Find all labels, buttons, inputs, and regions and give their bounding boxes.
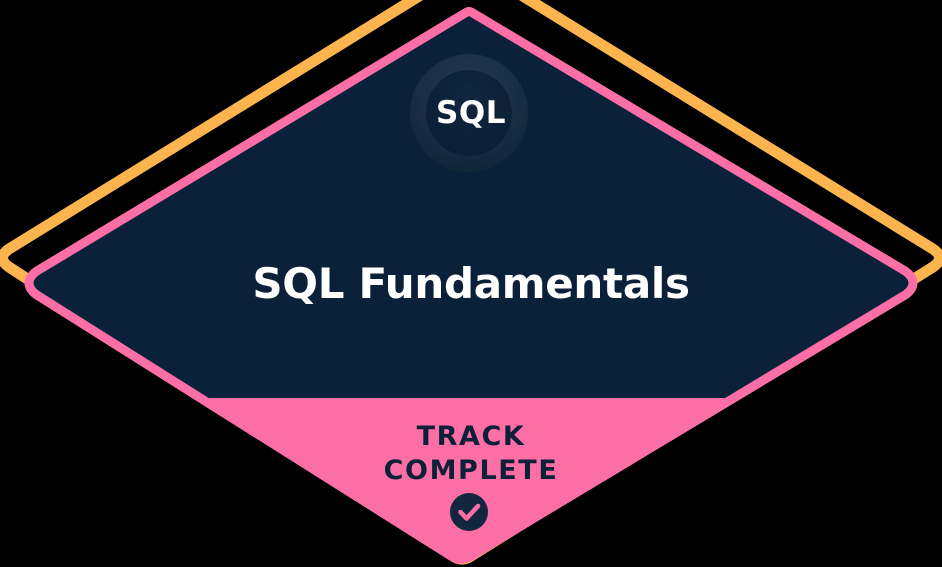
- track-badge[interactable]: SQL SQL Fundamentals TRACK COMPLETE: [0, 0, 942, 567]
- check-circle-icon: [450, 493, 488, 531]
- badge-graphic: [0, 0, 942, 567]
- sql-chip-inner: [426, 70, 512, 156]
